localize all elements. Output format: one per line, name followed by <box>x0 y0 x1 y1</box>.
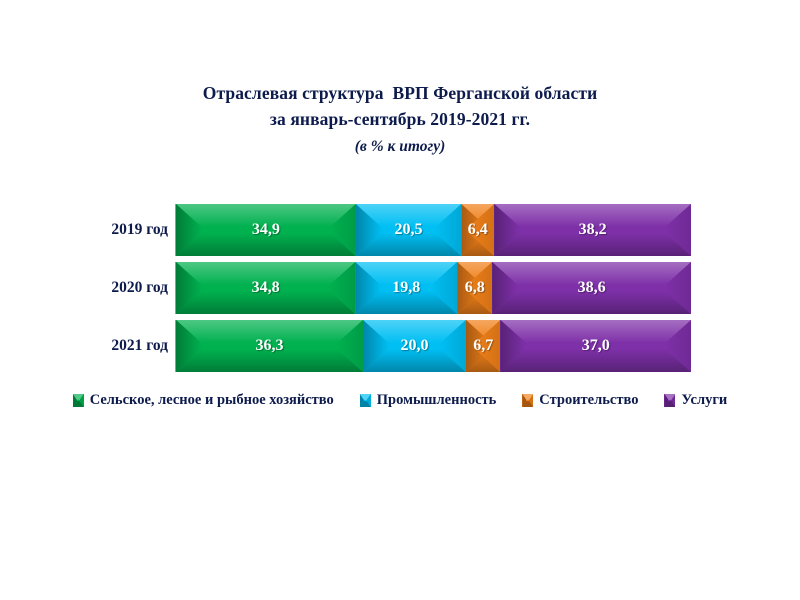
chart-title-line-2: за январь-сентябрь 2019-2021 гг. <box>0 106 800 132</box>
segment-bevel-left <box>356 204 382 256</box>
chart-legend: Сельское, лесное и рыбное хозяйствоПромы… <box>0 392 800 409</box>
bar-segment-строительство[interactable]: 6,7 <box>466 320 501 372</box>
segment-bevel-right <box>337 320 363 372</box>
stacked-bar: 36,320,06,737,0 <box>175 320 691 372</box>
legend-item-label: Услуги <box>681 392 727 409</box>
segment-value-label: 38,2 <box>579 221 607 239</box>
row-label-2020-год: 2020 год <box>58 262 168 314</box>
stacked-bar: 34,819,86,838,6 <box>175 262 691 314</box>
services-swatch-icon <box>664 394 675 407</box>
segment-value-label: 20,0 <box>400 337 428 355</box>
segment-bevel-left <box>500 320 526 372</box>
segment-bevel-left <box>176 262 202 314</box>
chart-subtitle: (в % к итогу) <box>0 134 800 160</box>
chart-title-block: Отраслевая структура ВРП Ферганской обла… <box>0 80 800 160</box>
row-label-2021-год: 2021 год <box>58 320 168 372</box>
agriculture-swatch-icon <box>73 394 84 407</box>
segment-value-label: 34,9 <box>252 221 280 239</box>
bar-segment-сельское[interactable]: 34,9 <box>176 204 356 256</box>
stacked-bar-chart: 2019 год34,920,56,438,22020 год34,819,86… <box>0 196 800 376</box>
bar-segment-строительство[interactable]: 6,4 <box>461 204 494 256</box>
segment-value-label: 38,6 <box>578 279 606 297</box>
segment-value-label: 6,7 <box>473 337 493 355</box>
legend-item[interactable]: Сельское, лесное и рыбное хозяйство <box>73 392 334 409</box>
segment-bevel-right <box>665 320 691 372</box>
chart-row: 2019 год34,920,56,438,2 <box>0 204 800 256</box>
bar-segment-промышленность[interactable]: 20,0 <box>363 320 466 372</box>
segment-bevel-left <box>176 204 202 256</box>
bar-segment-услуги[interactable]: 37,0 <box>500 320 691 372</box>
legend-item-label: Сельское, лесное и рыбное хозяйство <box>90 392 334 409</box>
segment-bevel-right <box>435 204 461 256</box>
bar-segment-промышленность[interactable]: 19,8 <box>355 262 457 314</box>
chart-row: 2021 год36,320,06,737,0 <box>0 320 800 372</box>
bar-segment-сельское[interactable]: 36,3 <box>176 320 363 372</box>
bar-segment-услуги[interactable]: 38,6 <box>492 262 691 314</box>
segment-bevel-left <box>176 320 202 372</box>
row-label-2019-год: 2019 год <box>58 204 168 256</box>
segment-value-label: 6,8 <box>465 279 485 297</box>
segment-bevel-left <box>494 204 520 256</box>
bar-segment-услуги[interactable]: 38,2 <box>494 204 691 256</box>
bar-segment-промышленность[interactable]: 20,5 <box>356 204 462 256</box>
chart-row: 2020 год34,819,86,838,6 <box>0 262 800 314</box>
segment-bevel-left <box>355 262 381 314</box>
segment-bevel-left <box>492 262 518 314</box>
stacked-bar: 34,920,56,438,2 <box>175 204 691 256</box>
legend-item[interactable]: Услуги <box>664 392 727 409</box>
segment-value-label: 20,5 <box>395 221 423 239</box>
segment-value-label: 36,3 <box>255 337 283 355</box>
segment-bevel-right <box>431 262 457 314</box>
segment-bevel-right <box>329 262 355 314</box>
segment-bevel-left <box>363 320 389 372</box>
bar-segment-строительство[interactable]: 6,8 <box>457 262 492 314</box>
construction-swatch-icon <box>522 394 533 407</box>
segment-bevel-right <box>330 204 356 256</box>
legend-item-label: Строительство <box>539 392 638 409</box>
segment-bevel-right <box>440 320 466 372</box>
segment-value-label: 37,0 <box>582 337 610 355</box>
segment-value-label: 6,4 <box>468 221 488 239</box>
segment-bevel-right <box>665 204 691 256</box>
segment-bevel-right <box>665 262 691 314</box>
bar-segment-сельское[interactable]: 34,8 <box>176 262 355 314</box>
segment-value-label: 19,8 <box>392 279 420 297</box>
legend-item-label: Промышленность <box>377 392 497 409</box>
legend-item[interactable]: Промышленность <box>360 392 497 409</box>
industry-swatch-icon <box>360 394 371 407</box>
segment-value-label: 34,8 <box>252 279 280 297</box>
legend-item[interactable]: Строительство <box>522 392 638 409</box>
chart-title-line-1: Отраслевая структура ВРП Ферганской обла… <box>0 80 800 106</box>
